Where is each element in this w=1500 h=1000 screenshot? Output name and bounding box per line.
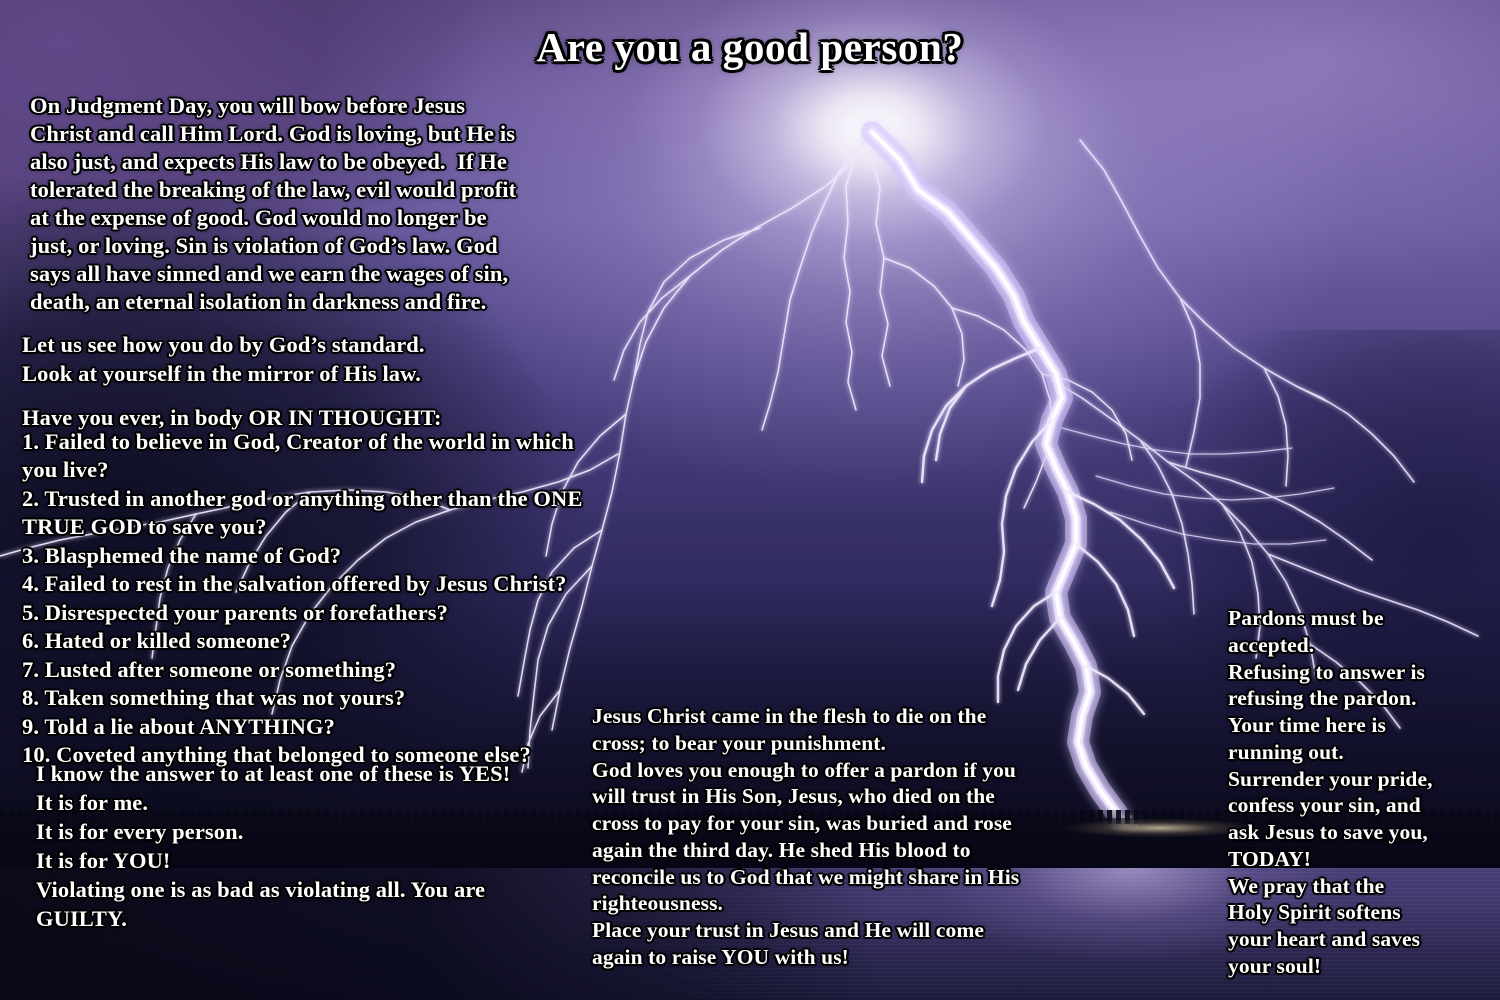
gospel-tract-poster: Are you a good person? On Judgment Day, …: [0, 0, 1500, 1000]
guilty-verdict-paragraph: I know the answer to at least one of the…: [36, 760, 596, 933]
judgment-day-paragraph: On Judgment Day, you will bow before Jes…: [30, 92, 570, 316]
page-title: Are you a good person?: [0, 24, 1500, 72]
gods-standard-paragraph: Let us see how you do by God’s standard.…: [22, 331, 622, 388]
ten-commandments-list: 1. Failed to believe in God, Creator of …: [22, 428, 642, 769]
gospel-paragraph: Jesus Christ came in the flesh to die on…: [592, 703, 1062, 971]
pardon-appeal-paragraph: Pardons must be accepted. Refusing to an…: [1228, 605, 1500, 980]
